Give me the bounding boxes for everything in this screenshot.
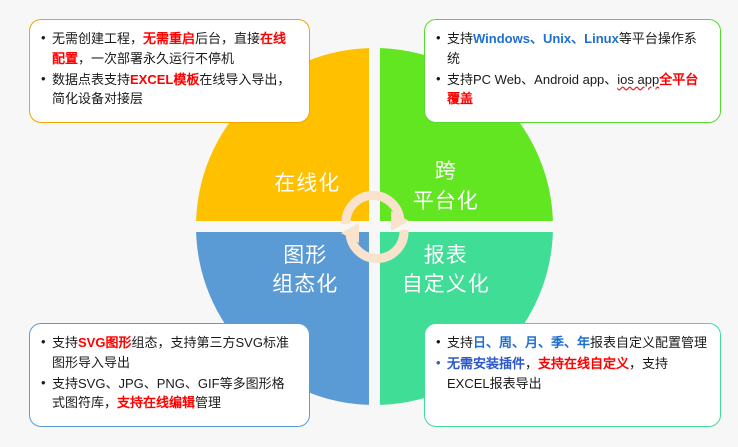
quadrant-label-online-text: 在线化 bbox=[274, 169, 340, 199]
list-item: 支持PC Web、Android app、ios app全平台覆盖 bbox=[435, 70, 708, 110]
text-segment: 、 bbox=[530, 31, 543, 46]
text-segment: 支持 bbox=[447, 335, 473, 350]
text-segment: 支持 bbox=[52, 335, 78, 350]
list-item: 支持Windows、Unix、Linux等平台操作系统 bbox=[435, 29, 708, 69]
list-item: 支持SVG图形组态，支持第三方SVG标准图形导入导出 bbox=[40, 333, 297, 373]
diagram-canvas: 在线化 跨 平台化 图形 组态化 报表 自定义化 无需创建工程，无需重启后台，直… bbox=[0, 0, 738, 447]
cycle-arrows-icon bbox=[338, 190, 412, 264]
text-segment: ，一次部署永久运行不停机 bbox=[78, 51, 234, 66]
callout-cross-platform: 支持Windows、Unix、Linux等平台操作系统 支持PC Web、And… bbox=[424, 19, 721, 123]
text-segment: 数据点表支持 bbox=[52, 72, 130, 87]
list-item: 无需安装插件，支持在线自定义，支持EXCEL报表导出 bbox=[435, 354, 708, 394]
list-item: 数据点表支持EXCEL模板在线导入导出，简化设备对接层 bbox=[40, 70, 297, 110]
list-item: 支持SVG、JPG、PNG、GIF等多图形格式图符库，支持在线编辑管理 bbox=[40, 374, 297, 414]
callout-graphics-list: 支持SVG图形组态，支持第三方SVG标准图形导入导出 支持SVG、JPG、PNG… bbox=[40, 333, 297, 413]
text-segment: 支持PC Web、Android app、 bbox=[447, 72, 617, 87]
text-segment: 报表自定义配置管理 bbox=[590, 335, 707, 350]
highlight-blue: Unix bbox=[543, 31, 571, 46]
list-item: 无需创建工程，无需重启后台，直接在线配置，一次部署永久运行不停机 bbox=[40, 29, 297, 69]
text-segment: ， bbox=[525, 356, 538, 371]
highlight-red: SVG图形 bbox=[78, 335, 131, 350]
highlight-red: 无需重启 bbox=[143, 31, 195, 46]
quadrant-label-report-text: 报表 自定义化 bbox=[402, 241, 490, 301]
text-segment: 后台，直接 bbox=[195, 31, 260, 46]
callout-online-list: 无需创建工程，无需重启后台，直接在线配置，一次部署永久运行不停机 数据点表支持E… bbox=[40, 29, 297, 109]
highlight-blue: Windows bbox=[473, 31, 530, 46]
highlight-red: 支持在线编辑 bbox=[117, 395, 195, 410]
highlight-blue: 无需安装插件 bbox=[447, 356, 525, 371]
highlight-red: EXCEL模板 bbox=[130, 72, 199, 87]
text-segment: 支持 bbox=[447, 31, 473, 46]
highlight-blue: 日、周、月、季、年 bbox=[473, 335, 590, 350]
text-segment: 无需创建工程， bbox=[52, 31, 143, 46]
highlight-red: 支持在线自定义 bbox=[538, 356, 629, 371]
text-segment: 管理 bbox=[195, 395, 221, 410]
spellcheck-marked-text: ios app bbox=[617, 72, 659, 87]
quadrant-label-graphics-text: 图形 组态化 bbox=[272, 241, 338, 301]
callout-report-list: 支持日、周、月、季、年报表自定义配置管理 无需安装插件，支持在线自定义，支持EX… bbox=[435, 333, 708, 393]
callout-cross-platform-list: 支持Windows、Unix、Linux等平台操作系统 支持PC Web、And… bbox=[435, 29, 708, 109]
highlight-blue: Linux bbox=[584, 31, 619, 46]
callout-online: 无需创建工程，无需重启后台，直接在线配置，一次部署永久运行不停机 数据点表支持E… bbox=[29, 19, 310, 123]
callout-report: 支持日、周、月、季、年报表自定义配置管理 无需安装插件，支持在线自定义，支持EX… bbox=[424, 323, 721, 427]
quadrant-label-cross-platform-text: 跨 平台化 bbox=[413, 157, 479, 217]
callout-graphics: 支持SVG图形组态，支持第三方SVG标准图形导入导出 支持SVG、JPG、PNG… bbox=[29, 323, 310, 427]
list-item: 支持日、周、月、季、年报表自定义配置管理 bbox=[435, 333, 708, 353]
text-segment: 、 bbox=[571, 31, 584, 46]
